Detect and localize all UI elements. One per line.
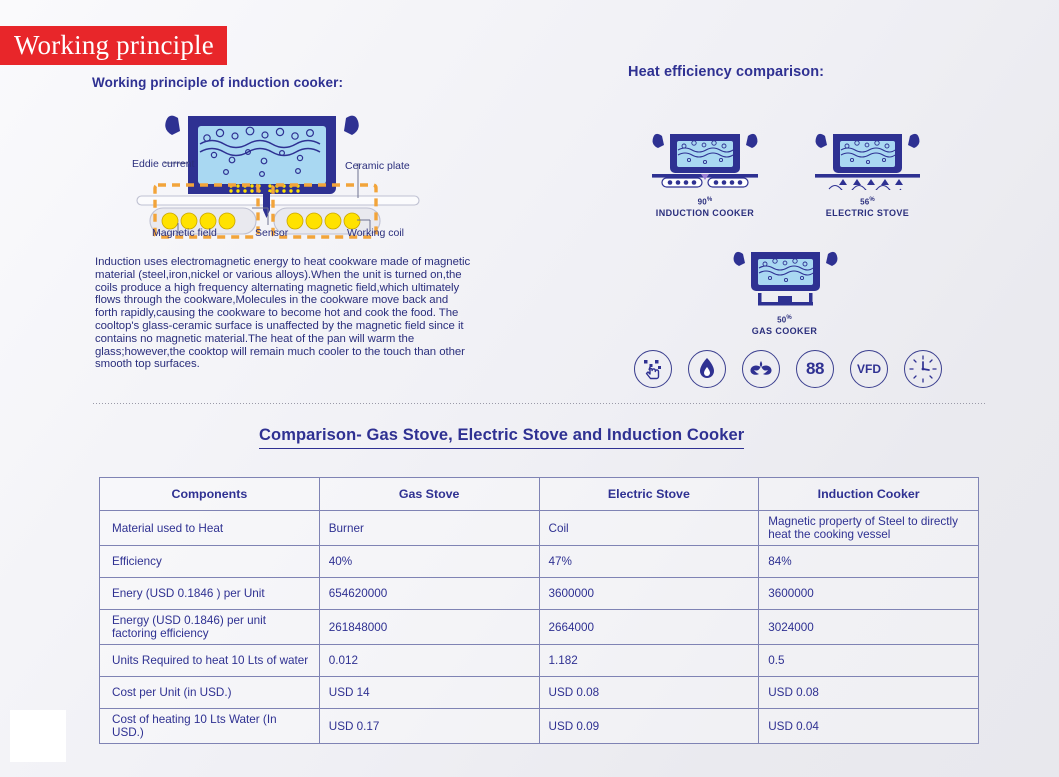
table-row: Efficiency 40% 47% 84% (100, 546, 979, 578)
table-row: Cost of heating 10 Lts Water (In USD.) U… (100, 709, 979, 744)
electric-stove-label: ELECTRIC STOVE (805, 208, 930, 218)
stove-item-electric-stove: 56% ELECTRIC STOVE (805, 128, 930, 218)
digit-display-icon[interactable]: 88 (796, 350, 834, 388)
row-gas: 261848000 (319, 610, 539, 645)
row-component: Cost per Unit (in USD.) (100, 677, 320, 709)
diagram-label-working-coil: Working coil (347, 227, 404, 239)
row-induction: 3024000 (759, 610, 979, 645)
row-gas: 0.012 (319, 645, 539, 677)
table-row: Enery (USD 0.1846 ) per Unit 654620000 3… (100, 578, 979, 610)
comparison-table-wrapper: Components Gas Stove Electric Stove Indu… (99, 477, 979, 744)
row-gas: Burner (319, 511, 539, 546)
diagram-label-sensor: Sensor (255, 227, 288, 239)
row-component: Material used to Heat (100, 511, 320, 546)
row-electric: 3600000 (539, 578, 759, 610)
comparison-table: Components Gas Stove Electric Stove Indu… (99, 477, 979, 744)
table-header-electric-stove: Electric Stove (539, 478, 759, 511)
row-component: Efficiency (100, 546, 320, 578)
row-induction: 84% (759, 546, 979, 578)
touch-control-glyph (642, 358, 664, 380)
diagram-label-ceramic-plate: Ceramic plate (345, 160, 410, 172)
stove-item-induction-cooker: 90% INDUCTION COOKER (640, 128, 770, 218)
gas-efficiency-percent: 50% (722, 315, 847, 325)
induction-description-paragraph: Induction uses electromagnetic energy to… (95, 256, 473, 371)
working-principle-banner: Working principle (0, 26, 227, 65)
electric-stove-icon (805, 128, 930, 190)
row-gas: USD 0.17 (319, 709, 539, 744)
row-component: Units Required to heat 10 Lts of water (100, 645, 320, 677)
induction-principle-diagram: Eddie current Ceramic plate Magnetic fie… (92, 100, 472, 250)
comparison-title: Comparison- Gas Stove, Electric Stove an… (259, 426, 744, 449)
row-induction: USD 0.04 (759, 709, 979, 744)
vfd-display-icon[interactable]: VFD (850, 350, 888, 388)
row-induction: Magnetic property of Steel to directly h… (759, 511, 979, 546)
banner-title: Working principle (0, 32, 214, 59)
row-induction: 0.5 (759, 645, 979, 677)
table-row: Units Required to heat 10 Lts of water 0… (100, 645, 979, 677)
row-gas: USD 14 (319, 677, 539, 709)
gas-cooker-icon (722, 246, 847, 308)
table-header-induction-cooker: Induction Cooker (759, 478, 979, 511)
row-electric: USD 0.09 (539, 709, 759, 744)
flame-icon[interactable] (688, 350, 726, 388)
induction-cooker-icon (640, 128, 770, 190)
table-row: Energy (USD 0.1846) per unit factoring e… (100, 610, 979, 645)
gas-cooker-label: GAS COOKER (722, 326, 847, 336)
touch-control-icon[interactable] (634, 350, 672, 388)
heat-efficiency-heading: Heat efficiency comparison: (628, 64, 824, 80)
row-electric: Coil (539, 511, 759, 546)
row-gas: 654620000 (319, 578, 539, 610)
row-induction: USD 0.08 (759, 677, 979, 709)
clock-glyph (908, 354, 938, 384)
row-component: Cost of heating 10 Lts Water (In USD.) (100, 709, 320, 744)
table-header-row: Components Gas Stove Electric Stove Indu… (100, 478, 979, 511)
eco-leaf-icon[interactable] (742, 350, 780, 388)
table-row: Cost per Unit (in USD.) USD 14 USD 0.08 … (100, 677, 979, 709)
row-electric: USD 0.08 (539, 677, 759, 709)
row-induction: 3600000 (759, 578, 979, 610)
diagram-label-eddie-current: Eddie current (132, 158, 194, 170)
row-component: Energy (USD 0.1846) per unit factoring e… (100, 610, 320, 645)
row-electric: 47% (539, 546, 759, 578)
row-electric: 2664000 (539, 610, 759, 645)
table-row: Material used to Heat Burner Coil Magnet… (100, 511, 979, 546)
bottom-left-placeholder-box (10, 710, 66, 762)
working-principle-subheading: Working principle of induction cooker: (92, 75, 343, 90)
table-header-gas-stove: Gas Stove (319, 478, 539, 511)
electric-efficiency-percent: 56% (805, 197, 930, 207)
feature-icon-row: 88 VFD (634, 350, 942, 388)
eco-leaf-glyph (749, 359, 773, 379)
stove-item-gas-cooker: 50% GAS COOKER (722, 246, 847, 336)
row-electric: 1.182 (539, 645, 759, 677)
table-header-components: Components (100, 478, 320, 511)
row-gas: 40% (319, 546, 539, 578)
row-component: Enery (USD 0.1846 ) per Unit (100, 578, 320, 610)
section-divider (93, 403, 985, 404)
induction-cooker-label: INDUCTION COOKER (640, 208, 770, 218)
induction-efficiency-percent: 90% (640, 197, 770, 207)
diagram-label-magnetic-field: Magnetic field (152, 227, 217, 239)
flame-glyph (697, 357, 717, 381)
timer-clock-icon[interactable] (904, 350, 942, 388)
